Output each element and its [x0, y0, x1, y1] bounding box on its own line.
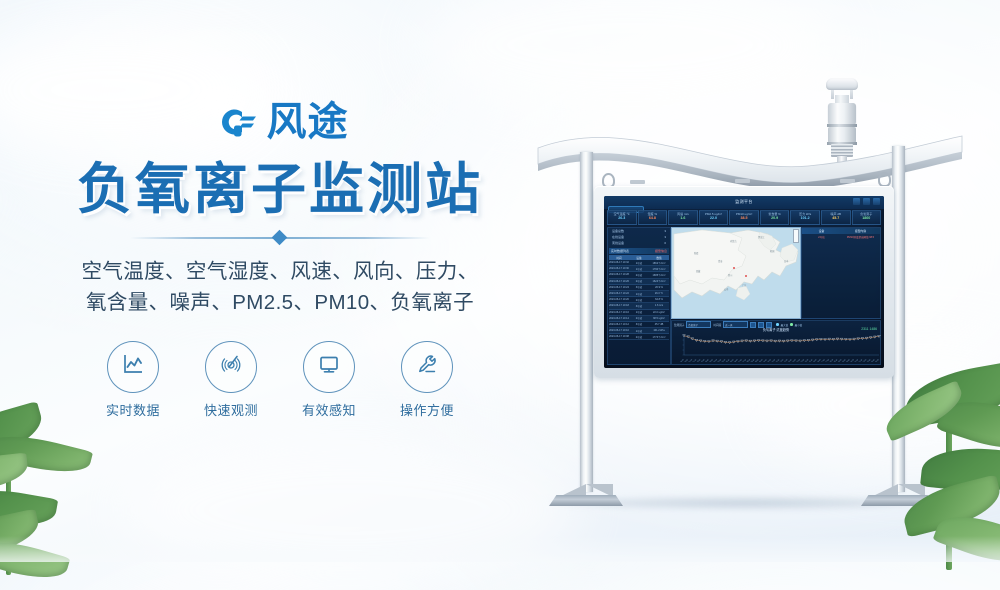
dashboard-toolbar — [853, 198, 880, 205]
table-cell: 1862个/cm³ — [649, 261, 669, 265]
table-cell: 3号站 — [629, 304, 649, 308]
metric-value: 22.0 — [700, 216, 728, 221]
exit-icon[interactable] — [873, 198, 880, 205]
table-cell: 2023-06-17 10:26 — [609, 280, 629, 283]
table-cell: 1624个/cm³ — [649, 279, 669, 283]
device-list-panel: 设备总数 3 在线设备 3 离线设备 0 实时数据列表 — [607, 227, 671, 365]
map-label: 四川 — [728, 274, 732, 277]
alarm-badge: 报警信息 — [655, 249, 669, 253]
stat-value: 0 — [664, 241, 666, 245]
feature-label: 实时数据 — [102, 400, 164, 419]
feature-label: 快速观测 — [200, 400, 262, 419]
legend-label-max: 最大值 — [781, 323, 789, 327]
legend-dot-min — [790, 323, 793, 326]
feature-item-realtime-data: 实时数据 — [102, 341, 164, 419]
stat-label: 在线设备 — [612, 235, 624, 239]
metric-card: 噪声 dB 45.7 — [821, 210, 851, 225]
data-table-header: 实时数据列表 报警信息 — [609, 248, 669, 254]
feature-item-fast-observation: 快速观测 — [200, 341, 262, 419]
metric-card: 压力 kPa 101.2 — [790, 210, 820, 225]
alarm-message: PM10浓度超出阈值 38.5 — [841, 235, 880, 239]
metric-card: 氧含量 % 20.9 — [760, 210, 790, 225]
table-cell: 45.7 dB — [649, 323, 669, 326]
chart-max-value: 2311 — [861, 327, 868, 331]
feature-list: 实时数据 快速观测 — [0, 341, 560, 419]
display-housing: 监测平台 空气温度 ℃ 26.3 湿度 % — [594, 186, 894, 378]
x-tick-label: 23:30 — [875, 359, 880, 362]
leaf — [0, 483, 58, 533]
table-cell: 2号站 — [629, 273, 649, 277]
table-cell: 101.2 kPa — [649, 329, 669, 332]
stat-label: 离线设备 — [612, 241, 624, 245]
table-cell: 3号站 — [629, 285, 649, 289]
table-cell: 2号站 — [629, 298, 649, 302]
brand-logo: 风途 — [0, 96, 560, 148]
column-header: 报警内容 — [841, 229, 880, 233]
chart-view-button[interactable] — [750, 322, 756, 328]
trend-chart: 00:0000:3001:0001:3002:0002:3003:0003:30… — [674, 332, 882, 362]
metric-value: 1860 — [853, 216, 881, 221]
bottom-fade — [0, 536, 1000, 562]
table-cell: 2023-06-17 10:20 — [609, 298, 629, 301]
chart-field-label: 监测因子 — [674, 323, 684, 327]
housing-clip — [840, 179, 855, 183]
marketing-copy: 风途 负氧离子监测站 空气温度、空气湿度、风速、风向、压力、 氧含量、噪声、PM… — [0, 96, 560, 419]
data-table-columns: 时间 设备 数值 — [609, 255, 669, 260]
cloud-wisp — [120, 430, 580, 590]
metric-value: 38.5 — [730, 216, 758, 221]
column-header: 设备 — [802, 229, 841, 233]
table-cell: 2号站 — [629, 316, 649, 320]
leaf — [0, 427, 93, 482]
parameter-line-2: 氧含量、噪声、PM2.5、PM10、负氧离子 — [0, 288, 560, 319]
table-cell: 2023-06-17 10:14 — [609, 317, 629, 320]
mounting-foot-left — [549, 484, 623, 506]
monitor-icon — [315, 350, 343, 383]
stat-value: 3 — [664, 235, 666, 239]
hanger-bracket-right — [878, 172, 891, 187]
chart-annotations: 2311 1486 — [861, 327, 877, 331]
table-row[interactable]: 2023-06-17 10:082号站1774个/cm³ — [609, 334, 669, 340]
column-header: 设备 — [629, 256, 649, 260]
table-cell: 2号站 — [629, 279, 649, 283]
table-cell: 26.3 ℃ — [649, 292, 669, 295]
metric-value: 101.2 — [791, 216, 819, 221]
table-cell: 2023-06-17 10:12 — [609, 323, 629, 326]
table-cell: 64.8 % — [649, 298, 669, 301]
table-cell: 3号站 — [629, 322, 649, 326]
parameter-line-1: 空气温度、空气湿度、风速、风向、压力、 — [0, 257, 560, 288]
alarm-panel: 设备 报警内容 2号站 PM10浓度超出阈值 38.5 — [801, 227, 881, 319]
metric-card: PM2.5 ug/m³ 22.0 — [699, 210, 729, 225]
table-cell: 2023-06-17 10:30 — [609, 267, 629, 270]
metric-card: 空气温度 ℃ 26.3 — [607, 210, 637, 225]
table-cell: 1685个/cm³ — [649, 273, 669, 277]
table-cell: 2023-06-17 10:22 — [609, 292, 629, 295]
map-zoom-control[interactable] — [793, 229, 799, 243]
table-cell: 1号站 — [629, 310, 649, 314]
chart-min-value: 1486 — [869, 327, 877, 331]
feature-label: 操作方便 — [396, 400, 458, 419]
user-icon[interactable] — [863, 198, 870, 205]
title-divider — [130, 232, 430, 244]
table-cell: 1号站 — [629, 267, 649, 271]
table-cell: 2023-06-17 10:10 — [609, 329, 629, 332]
mounting-foot-right — [861, 484, 935, 506]
table-cell: 20.9 % — [649, 286, 669, 289]
alarm-row: 2号站 PM10浓度超出阈值 38.5 — [802, 234, 880, 239]
table-cell: 1号站 — [629, 261, 649, 265]
parameter-list: 空气温度、空气湿度、风速、风向、压力、 氧含量、噪声、PM2.5、PM10、负氧… — [0, 257, 560, 319]
table-cell: 1号站 — [629, 329, 649, 333]
settings-icon[interactable] — [853, 198, 860, 205]
divider-diamond — [272, 230, 288, 246]
table-cell: 2号站 — [629, 335, 649, 339]
dashboard-title: 监测平台 — [604, 199, 884, 205]
feature-icon-circle — [205, 341, 257, 393]
radar-scan-icon — [217, 350, 245, 383]
table-cell: 2023-06-17 10:24 — [609, 286, 629, 289]
metric-value: 45.7 — [822, 216, 850, 221]
metric-card-row: 空气温度 ℃ 26.3 湿度 % 64.8 风速 m/s 1.6 PM2.5 — [607, 210, 881, 225]
housing-clip — [735, 179, 750, 183]
alarm-device: 2号站 — [802, 235, 841, 239]
feature-item-easy-operation: 操作方便 — [396, 341, 458, 419]
metric-value: 64.8 — [639, 216, 667, 221]
table-cell: 2023-06-17 10:08 — [609, 335, 629, 338]
metric-value: 1.6 — [669, 216, 697, 221]
metric-card: 湿度 % 64.8 — [638, 210, 668, 225]
metric-card: 风速 m/s 1.6 — [668, 210, 698, 225]
brand-name: 风途 — [267, 102, 349, 142]
wind-logo-icon — [212, 99, 258, 145]
feature-label: 有效感知 — [298, 400, 360, 419]
stat-value: 3 — [664, 229, 666, 233]
chart-range-label: 时间段 — [713, 323, 721, 327]
support-post-left — [580, 152, 593, 492]
table-cell: 2023-06-17 10:16 — [609, 311, 629, 314]
feature-icon-circle — [107, 341, 159, 393]
page-title: 负氧离子监测站 — [0, 160, 560, 218]
legend-dot-max — [776, 323, 779, 326]
leaf — [0, 453, 29, 494]
chart-range-select[interactable]: 近一天 — [723, 321, 748, 328]
table-cell: 1790个/cm³ — [649, 267, 669, 271]
banner-stage: 风途 负氧离子监测站 空气温度、空气湿度、风速、风向、压力、 氧含量、噪声、PM… — [0, 0, 1000, 562]
feature-item-effective-sensing: 有效感知 — [298, 341, 360, 419]
feature-icon-circle — [303, 341, 355, 393]
legend-label-min: 最小值 — [795, 323, 803, 327]
dashboard: 监测平台 空气温度 ℃ 26.3 湿度 % — [604, 196, 884, 368]
table-cell: 2023-06-17 10:32 — [609, 261, 629, 264]
metric-value: 20.9 — [761, 216, 789, 221]
data-table-title: 实时数据列表 — [609, 249, 629, 253]
table-cell: 38.5 ug/m³ — [649, 317, 669, 320]
metric-value: 26.3 — [608, 216, 636, 221]
table-cell: 2023-06-17 10:18 — [609, 304, 629, 307]
monitoring-station-product: 监测平台 空气温度 ℃ 26.3 湿度 % — [520, 60, 980, 530]
wrench-icon — [413, 350, 441, 383]
table-cell: 2023-06-17 10:28 — [609, 273, 629, 276]
table-cell: 1774个/cm³ — [649, 335, 669, 339]
chart-field-select[interactable]: 负氧离子 — [686, 321, 711, 328]
column-header: 数值 — [649, 256, 669, 260]
data-table-body: 2023-06-17 10:321号站1862个/cm³2023-06-17 1… — [608, 260, 670, 340]
china-map[interactable]: 新疆 内蒙古 黑龙江 西藏 青海 四川 云南 广东 日本 韩国 — [671, 227, 801, 319]
table-cell: 1号站 — [629, 292, 649, 296]
trend-chart-panel: 监测因子 负氧离子 时间段 近一天 最大值 最小值 负氧离子 — [671, 320, 881, 365]
stat-row: 离线设备 0 — [608, 240, 670, 246]
foot-plate — [861, 495, 935, 506]
table-cell: 22.0 ug/m³ — [649, 311, 669, 314]
housing-clip — [630, 180, 645, 184]
dashboard-screen[interactable]: 监测平台 空气温度 ℃ 26.3 湿度 % — [604, 196, 884, 368]
feature-icon-circle — [401, 341, 453, 393]
column-header: 时间 — [609, 256, 629, 260]
line-chart-icon — [119, 350, 147, 383]
stat-label: 设备总数 — [612, 229, 624, 233]
sensor-cap — [826, 78, 858, 90]
metric-card: PM10 ug/m³ 38.5 — [729, 210, 759, 225]
metric-card: 负氧离子 1860 — [852, 210, 882, 225]
table-cell: 1.6 m/s — [649, 304, 669, 307]
foot-plate — [549, 495, 623, 506]
